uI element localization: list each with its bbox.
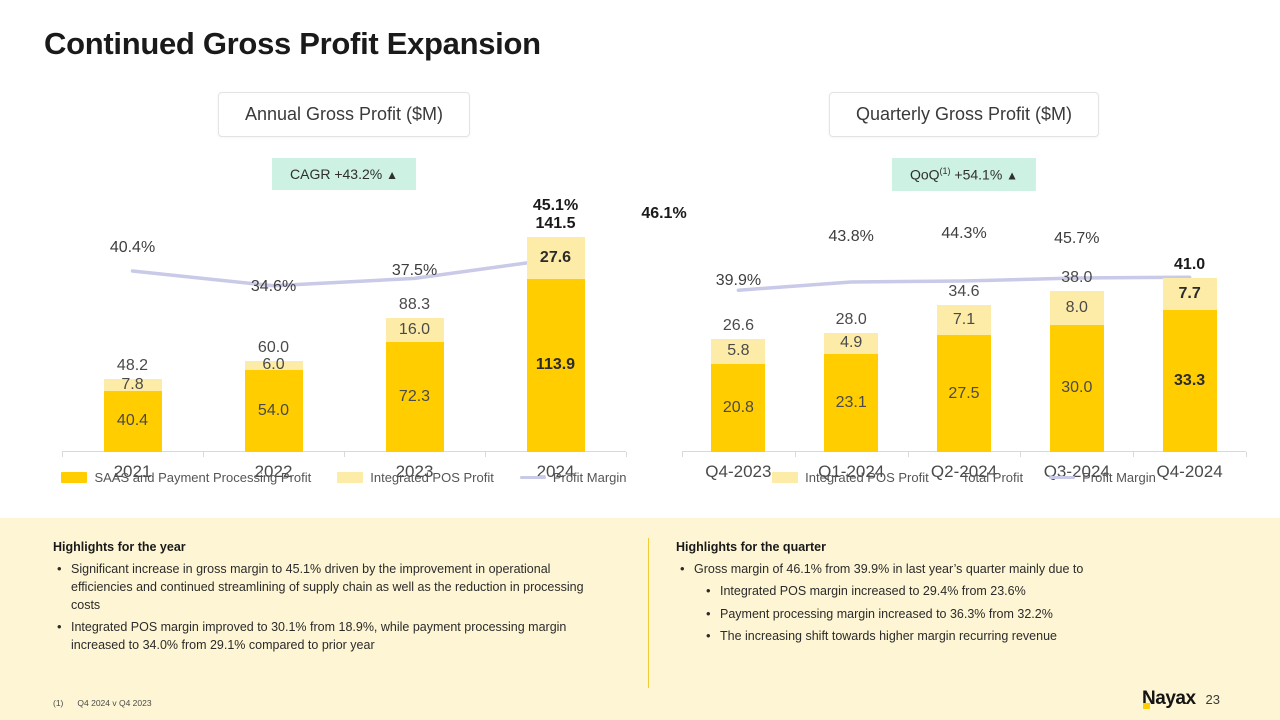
chart-title-annual: Annual Gross Profit ($M) — [218, 92, 470, 137]
profit-margin-label: 39.9% — [716, 272, 761, 290]
bar-segment-integrated-pos: 8.0 — [1050, 291, 1104, 325]
bar-2021[interactable]: 7.840.4 — [104, 379, 162, 452]
legend-item[interactable]: Integrated POS Profit — [337, 470, 494, 485]
page-number: 23 — [1206, 692, 1220, 707]
legend-swatch-main-icon — [61, 472, 87, 483]
legend-swatch-line-icon — [1049, 476, 1075, 479]
bar-segment-main-profit: 72.3 — [386, 342, 444, 452]
plot-area-quarterly: 5.820.826.6Q4-20234.923.128.0Q1-20247.12… — [664, 212, 1264, 452]
bar-segment-integrated-pos: 6.0 — [245, 361, 303, 370]
profit-margin-label: 40.4% — [110, 239, 155, 257]
highlight-sub-list: Integrated POS margin increased to 29.4%… — [694, 583, 1236, 646]
profit-margin-label: 45.1% — [533, 197, 578, 215]
axis-tick — [682, 452, 683, 457]
bar-segment-main-profit: 23.1 — [824, 354, 878, 452]
footnote: (1) Q4 2024 v Q4 2023 — [53, 698, 152, 708]
legend-quarterly: Integrated POS ProfitTotal ProfitProfit … — [664, 470, 1264, 485]
legend-item[interactable]: Profit Margin — [520, 470, 627, 485]
bar-Q4-2024[interactable]: 7.733.3 — [1163, 278, 1217, 452]
bar-segment-label: 23.1 — [836, 394, 867, 412]
axis-tick — [1020, 452, 1021, 457]
bar-total-label: 38.0 — [1061, 269, 1092, 287]
bar-segment-integrated-pos: 5.8 — [711, 339, 765, 364]
bar-segment-main-profit: 33.3 — [1163, 310, 1217, 452]
bar-segment-label: 5.8 — [727, 342, 749, 360]
highlights-year-list: Significant increase in gross margin to … — [53, 561, 613, 655]
bar-segment-integrated-pos: 27.6 — [527, 237, 585, 279]
bar-Q2-2024[interactable]: 7.127.5 — [937, 305, 991, 452]
bar-segment-label: 20.8 — [723, 399, 754, 417]
legend-label: Profit Margin — [1082, 470, 1156, 485]
profit-margin-label: 46.1% — [641, 205, 686, 223]
legend-label: Integrated POS Profit — [370, 470, 494, 485]
axis-tick — [908, 452, 909, 457]
profit-margin-label: 37.5% — [392, 262, 437, 280]
axis-tick — [485, 452, 486, 457]
bar-segment-label: 113.9 — [536, 356, 575, 374]
highlight-sub-bullet: Payment processing margin increased to 3… — [694, 606, 1236, 624]
qoq-badge-footnote-marker: (1) — [940, 166, 951, 176]
bar-segment-main-profit: 30.0 — [1050, 325, 1104, 453]
bar-segment-label: 30.0 — [1061, 379, 1092, 397]
nayax-logo-text: Nayax — [1142, 688, 1196, 710]
highlight-sub-bullet: Integrated POS margin increased to 29.4%… — [694, 583, 1236, 601]
highlight-bullet: Integrated POS margin improved to 30.1% … — [53, 619, 613, 655]
bar-segment-label: 7.7 — [1178, 285, 1200, 303]
axis-tick — [344, 452, 345, 457]
bar-segment-label: 4.9 — [840, 334, 862, 352]
bar-segment-integrated-pos: 7.8 — [104, 379, 162, 391]
bar-Q4-2023[interactable]: 5.820.8 — [711, 339, 765, 452]
bar-total-label: 41.0 — [1174, 256, 1205, 274]
bar-segment-main-profit: 20.8 — [711, 364, 765, 452]
legend-label: Total Profit — [962, 470, 1023, 485]
plot-area-annual: 7.840.448.220216.054.060.0202216.072.388… — [44, 212, 644, 452]
axis-tick — [1133, 452, 1134, 457]
bar-total-label: 26.6 — [723, 317, 754, 335]
bar-segment-integrated-pos: 7.7 — [1163, 278, 1217, 311]
annual-gross-profit-chart: Annual Gross Profit ($M) CAGR +43.2% ▲ 7… — [44, 92, 644, 512]
bar-Q1-2024[interactable]: 4.923.1 — [824, 333, 878, 452]
quarterly-gross-profit-chart: Quarterly Gross Profit ($M) QoQ(1) +54.1… — [664, 92, 1264, 512]
profit-margin-label: 43.8% — [829, 228, 874, 246]
footnote-text: Q4 2024 v Q4 2023 — [77, 698, 151, 708]
profit-margin-label: 44.3% — [941, 225, 986, 243]
bar-segment-integrated-pos: 4.9 — [824, 333, 878, 354]
highlights-quarter: Highlights for the quarter Gross margin … — [676, 540, 1236, 651]
page-title: Continued Gross Profit Expansion — [44, 26, 541, 62]
legend-item[interactable]: Total Profit — [955, 470, 1023, 485]
bar-Q3-2024[interactable]: 8.030.0 — [1050, 291, 1104, 453]
bar-segment-label: 33.3 — [1174, 372, 1205, 390]
bar-segment-label: 27.6 — [540, 249, 571, 267]
bar-segment-label: 16.0 — [399, 321, 430, 339]
slide: Continued Gross Profit Expansion Annual … — [0, 0, 1280, 720]
chart-title-quarterly: Quarterly Gross Profit ($M) — [829, 92, 1099, 137]
highlights-quarter-heading: Highlights for the quarter — [676, 540, 1236, 554]
axis-tick — [1246, 452, 1247, 457]
bar-segment-label: 40.4 — [117, 412, 148, 430]
legend-swatch-line-icon — [520, 476, 546, 479]
profit-margin-polyline — [133, 259, 556, 286]
triangle-up-icon: ▲ — [386, 168, 398, 182]
bar-segment-main-profit: 27.5 — [937, 335, 991, 452]
bar-total-label: 34.6 — [948, 283, 979, 301]
legend-swatch-pos-icon — [772, 472, 798, 483]
legend-label: SAAS and Payment Processing Profit — [94, 470, 311, 485]
highlight-bullet: Significant increase in gross margin to … — [53, 561, 613, 614]
highlights-year: Highlights for the year Significant incr… — [53, 540, 613, 660]
highlight-bullet: Gross margin of 46.1% from 39.9% in last… — [676, 561, 1236, 646]
bar-2024[interactable]: 27.6113.9 — [527, 237, 585, 452]
bar-total-label: 141.5 — [535, 215, 575, 233]
bar-total-label: 48.2 — [117, 357, 148, 375]
qoq-badge-prefix: QoQ — [910, 167, 940, 183]
brand-logo: Nayax 23 — [1142, 688, 1220, 710]
bar-total-label: 28.0 — [836, 311, 867, 329]
axis-tick — [62, 452, 63, 457]
legend-item[interactable]: Profit Margin — [1049, 470, 1156, 485]
qoq-badge-value: +54.1% — [951, 167, 1003, 183]
bar-segment-label: 7.1 — [953, 311, 975, 329]
triangle-up-icon: ▲ — [1006, 169, 1018, 183]
bar-segment-label: 27.5 — [948, 385, 979, 403]
legend-annual: SAAS and Payment Processing ProfitIntegr… — [44, 470, 644, 485]
bar-segment-integrated-pos: 7.1 — [937, 305, 991, 335]
bar-2023[interactable]: 16.072.3 — [386, 318, 444, 452]
profit-margin-label: 34.6% — [251, 278, 296, 296]
cagr-badge-text: CAGR +43.2% — [290, 166, 382, 182]
bar-segment-integrated-pos: 16.0 — [386, 318, 444, 342]
footnote-marker: (1) — [53, 698, 63, 708]
cagr-badge: CAGR +43.2% ▲ — [272, 158, 416, 190]
legend-item[interactable]: SAAS and Payment Processing Profit — [61, 470, 311, 485]
bar-segment-main-profit: 54.0 — [245, 370, 303, 452]
highlights-divider — [648, 538, 649, 688]
highlight-sub-bullet: The increasing shift towards higher marg… — [694, 628, 1236, 646]
axis-tick — [795, 452, 796, 457]
bar-segment-label: 8.0 — [1066, 299, 1088, 317]
bar-total-label: 60.0 — [258, 339, 289, 357]
bar-total-label: 88.3 — [399, 296, 430, 314]
qoq-badge: QoQ(1) +54.1% ▲ — [892, 158, 1036, 191]
legend-swatch-pos-icon — [337, 472, 363, 483]
legend-label: Integrated POS Profit — [805, 470, 929, 485]
highlights-year-heading: Highlights for the year — [53, 540, 613, 554]
bar-segment-label: 72.3 — [399, 388, 430, 406]
bar-segment-main-profit: 40.4 — [104, 391, 162, 452]
axis-tick — [626, 452, 627, 457]
axis-tick — [203, 452, 204, 457]
bar-segment-main-profit: 113.9 — [527, 279, 585, 452]
legend-item[interactable]: Integrated POS Profit — [772, 470, 929, 485]
bar-2022[interactable]: 6.054.0 — [245, 361, 303, 452]
bar-segment-label: 54.0 — [258, 402, 289, 420]
highlights-quarter-list: Gross margin of 46.1% from 39.9% in last… — [676, 561, 1236, 646]
legend-label: Profit Margin — [553, 470, 627, 485]
profit-margin-label: 45.7% — [1054, 230, 1099, 248]
